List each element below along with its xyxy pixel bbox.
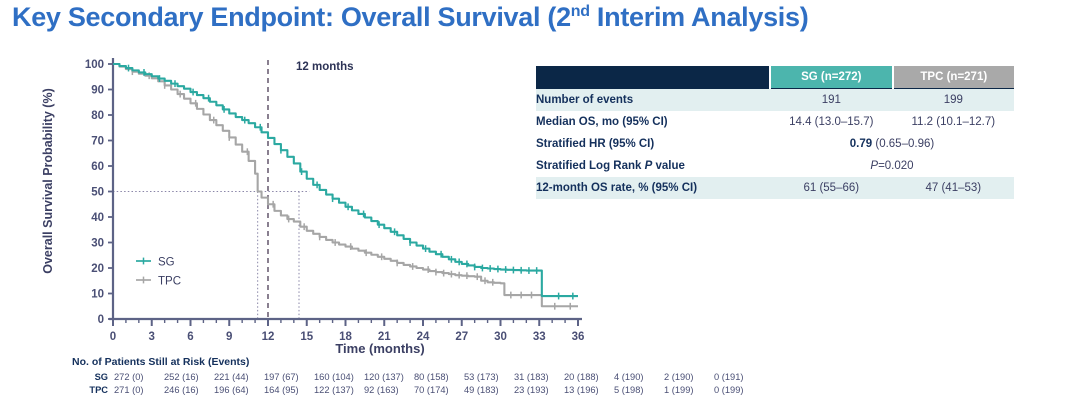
at-risk-cell: 221 (44) — [214, 370, 264, 383]
results-row-label: Number of events — [536, 89, 770, 112]
at-risk-cell: 164 (95) — [264, 383, 314, 396]
results-table-row: Stratified Log Rank P valueP=0.020 — [536, 155, 1014, 177]
x-tick-label: 21 — [378, 331, 391, 343]
at-risk-row: TPC271 (0)246 (16)196 (64)164 (95)122 (1… — [72, 383, 764, 396]
at-risk-cell: 0 (191) — [714, 370, 764, 383]
at-risk-cell: 271 (0) — [114, 383, 164, 396]
slide-root: Key Secondary Endpoint: Overall Survival… — [0, 0, 1080, 406]
at-risk-cell: 5 (198) — [614, 383, 664, 396]
results-table-body: SG (n=272) TPC (n=271) Number of events1… — [536, 66, 1014, 199]
x-tick-label: 30 — [494, 331, 507, 343]
results-row-sg-value: 61 (55–66) — [770, 177, 893, 199]
at-risk-cell: 252 (16) — [164, 370, 214, 383]
chart-legend: SGTPC — [136, 257, 181, 288]
at-risk-cell: 23 (193) — [514, 383, 564, 396]
results-row-tpc-value: 47 (41–53) — [893, 177, 1014, 199]
results-row-label: Median OS, mo (95% CI) — [536, 111, 770, 133]
results-row-tpc-value: 11.2 (10.1–12.7) — [893, 111, 1014, 133]
at-risk-cell: 197 (67) — [264, 370, 314, 383]
at-risk-cell: 246 (16) — [164, 383, 214, 396]
km-chart: Overall Survival Probability (%) Time (m… — [0, 46, 620, 356]
page-title-main: Key Secondary Endpoint: Overall Survival… — [12, 2, 571, 32]
x-tick-label: 24 — [417, 331, 430, 343]
at-risk-cell: 120 (137) — [364, 370, 414, 383]
km-series-tpc — [113, 64, 578, 310]
at-risk-title: No. of Patients Still at Risk (Events) — [72, 356, 832, 368]
results-row-tpc-value: 199 — [893, 89, 1014, 112]
km-curve-sg — [113, 64, 578, 296]
header-blank-cell — [536, 66, 770, 89]
y-tick-label: 100 — [85, 59, 104, 71]
results-table: SG (n=272) TPC (n=271) Number of events1… — [536, 66, 1014, 199]
x-tick-label: 6 — [187, 331, 193, 343]
at-risk-cell: 2 (190) — [664, 370, 714, 383]
x-tick-label: 0 — [110, 331, 116, 343]
at-risk-cell: 1 (199) — [664, 383, 714, 396]
results-row-label: Stratified HR (95% CI) — [536, 133, 770, 155]
y-tick-label: 90 — [91, 85, 104, 97]
results-table-row: Median OS, mo (95% CI)14.4 (13.0–15.7)11… — [536, 111, 1014, 133]
page-title: Key Secondary Endpoint: Overall Survival… — [12, 2, 1072, 42]
at-risk-cell: 13 (196) — [564, 383, 614, 396]
y-tick-label: 10 — [91, 289, 104, 301]
at-risk-row-name: SG — [72, 370, 114, 383]
y-tick-label: 50 — [91, 187, 104, 199]
results-table-row: Stratified HR (95% CI)0.79 (0.65–0.96) — [536, 133, 1014, 155]
legend-label-tpc: TPC — [158, 276, 181, 288]
y-tick-label: 80 — [91, 110, 104, 122]
at-risk-cell: 92 (163) — [364, 383, 414, 396]
y-tick-label: 20 — [91, 263, 104, 275]
x-tick-label: 33 — [533, 331, 546, 343]
at-risk-cell: 160 (104) — [314, 370, 364, 383]
x-tick-label: 18 — [339, 331, 352, 343]
results-row-label: Stratified Log Rank P value — [536, 155, 770, 177]
at-risk-cell: 122 (137) — [314, 383, 364, 396]
km-series-sg — [113, 64, 578, 299]
at-risk-cell: 49 (183) — [464, 383, 514, 396]
results-row-span-value: P=0.020 — [770, 155, 1014, 177]
x-tick-label: 9 — [226, 331, 232, 343]
at-risk-cell: 0 (199) — [714, 383, 764, 396]
header-sg-cell: SG (n=272) — [770, 66, 893, 89]
at-risk-table-body: SG272 (0)252 (16)221 (44)197 (67)160 (10… — [72, 370, 764, 396]
results-table-header-row: SG (n=272) TPC (n=271) — [536, 66, 1014, 89]
at-risk-row: SG272 (0)252 (16)221 (44)197 (67)160 (10… — [72, 370, 764, 383]
results-row-span-value: 0.79 (0.65–0.96) — [770, 133, 1014, 155]
page-title-tail: Interim Analysis) — [590, 2, 809, 32]
km-plot-svg: 0102030405060708090100036912151821242730… — [0, 46, 620, 346]
y-tick-label: 30 — [91, 238, 104, 250]
at-risk-cell: 272 (0) — [114, 370, 164, 383]
y-tick-label: 60 — [91, 161, 104, 173]
at-risk-cell: 196 (64) — [214, 383, 264, 396]
at-risk-cell: 4 (190) — [614, 370, 664, 383]
header-tpc-cell: TPC (n=271) — [893, 66, 1014, 89]
y-tick-label: 70 — [91, 136, 104, 148]
at-risk-cell: 31 (183) — [514, 370, 564, 383]
y-tick-label: 0 — [98, 314, 104, 326]
x-tick-label: 3 — [149, 331, 155, 343]
at-risk-cell: 53 (173) — [464, 370, 514, 383]
at-risk-cell: 80 (158) — [414, 370, 464, 383]
results-row-sg-value: 191 — [770, 89, 893, 112]
at-risk-cell: 20 (188) — [564, 370, 614, 383]
at-risk-cell: 70 (174) — [414, 383, 464, 396]
x-tick-label: 15 — [300, 331, 313, 343]
x-tick-label: 27 — [455, 331, 468, 343]
legend-label-sg: SG — [158, 257, 175, 269]
results-row-sg-value: 14.4 (13.0–15.7) — [770, 111, 893, 133]
x-tick-label: 36 — [572, 331, 585, 343]
at-risk-block: No. of Patients Still at Risk (Events) S… — [72, 356, 832, 396]
y-tick-label: 40 — [91, 212, 104, 224]
results-table-row: Number of events191199 — [536, 89, 1014, 112]
results-table-row: 12-month OS rate, % (95% CI)61 (55–66)47… — [536, 177, 1014, 199]
x-tick-label: 12 — [262, 331, 275, 343]
at-risk-table: SG272 (0)252 (16)221 (44)197 (67)160 (10… — [72, 370, 764, 396]
at-risk-row-name: TPC — [72, 383, 114, 396]
page-title-superscript: nd — [571, 3, 590, 20]
results-row-label: 12-month OS rate, % (95% CI) — [536, 177, 770, 199]
